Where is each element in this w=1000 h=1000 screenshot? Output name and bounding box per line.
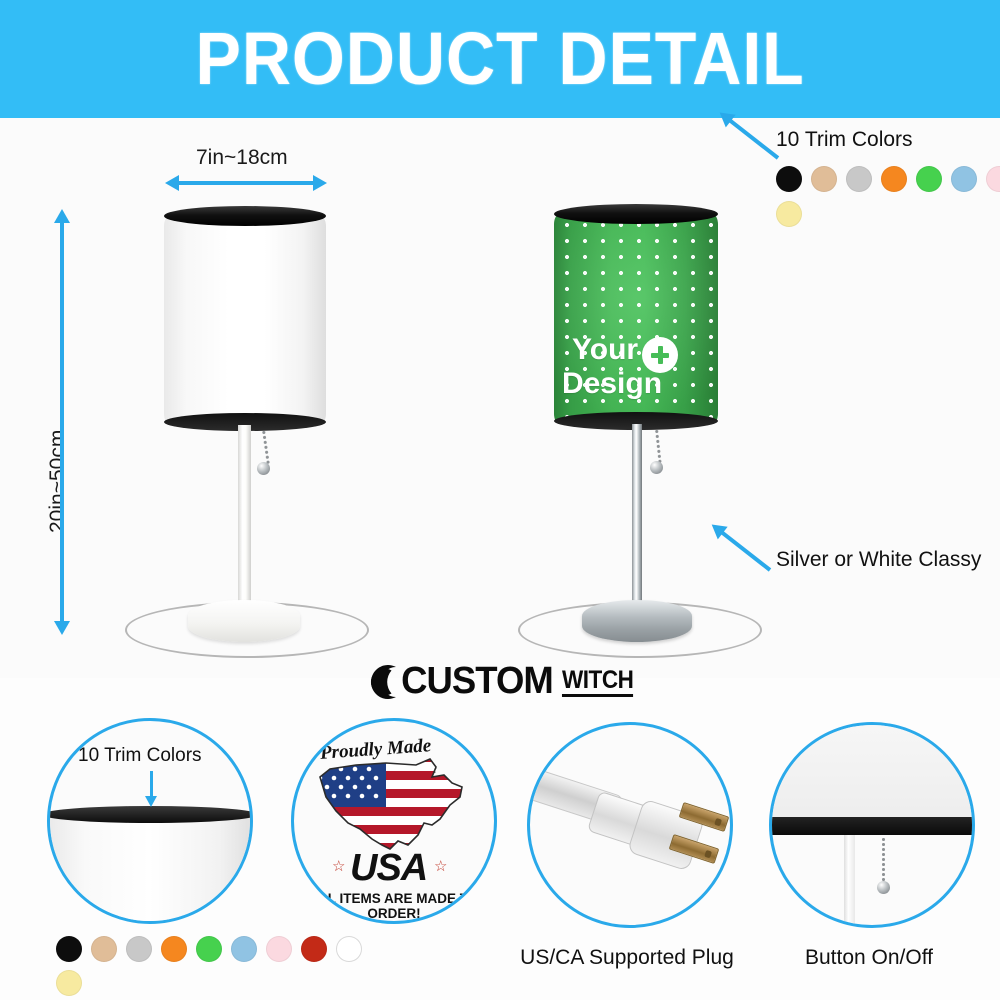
trim-swatch-white[interactable] [336, 936, 362, 962]
trim-colors-title: 10 Trim Colors [776, 128, 1000, 152]
switch-shade-surface [769, 722, 975, 825]
trim-swatch-gray[interactable] [846, 166, 872, 192]
trim-swatch-pink[interactable] [986, 166, 1000, 192]
base-finish-callout: Silver or White Classy [776, 548, 981, 572]
white-shade-surface [164, 216, 326, 424]
plug-feature [527, 722, 733, 928]
width-measurement-label: 7in~18cm [196, 146, 288, 170]
trim-colors-row-1 [776, 166, 1000, 192]
bottom-trim-row-2 [56, 970, 362, 996]
green-lamp-chain-ball[interactable] [650, 461, 663, 474]
white-lamp-top-trim [164, 206, 326, 226]
trim-swatch-black[interactable] [56, 936, 82, 962]
height-measurement-arrow [60, 222, 64, 622]
switch-lamp-pole [844, 835, 855, 928]
feature-shade-trim [47, 806, 253, 823]
usa-star-right: ☆ [434, 857, 447, 875]
trim-swatch-dark-red[interactable] [301, 936, 327, 962]
width-measurement-arrow [178, 181, 314, 185]
trim-swatch-black[interactable] [776, 166, 802, 192]
white-lamp-shade [164, 216, 326, 424]
trim-swatch-tan[interactable] [811, 166, 837, 192]
plug-feature-caption: US/CA Supported Plug [507, 946, 747, 970]
white-lamp-pull-chain[interactable] [262, 430, 270, 466]
switch-chain-ball[interactable] [877, 881, 890, 894]
trim-swatch-light-blue[interactable] [231, 936, 257, 962]
green-lamp-top-trim [554, 204, 718, 224]
usa-star-left: ☆ [332, 857, 345, 875]
height-measurement-label: 20in~50cm [46, 430, 70, 533]
trim-swatch-pink[interactable] [266, 936, 292, 962]
green-lamp-pole [632, 424, 642, 626]
trim-swatch-yellow[interactable] [56, 970, 82, 996]
trim-colors-panel: 10 Trim Colors [776, 128, 1000, 227]
trim-swatch-green[interactable] [196, 936, 222, 962]
header-banner: PRODUCT DETAIL [0, 0, 1000, 118]
brand-name-main: CUSTOM [401, 660, 553, 703]
green-lamp-pull-chain[interactable] [655, 429, 662, 465]
white-lamp-pole [238, 425, 251, 625]
feature-trim-pointer-arrow [150, 771, 153, 797]
green-lamp-base [582, 600, 692, 642]
trim-swatch-orange[interactable] [881, 166, 907, 192]
switch-feature [769, 722, 975, 928]
trim-colors-row-2 [776, 201, 1000, 227]
made-in-usa-feature: Proudly Made in the [291, 718, 497, 924]
switch-feature-caption: Button On/Off [769, 946, 969, 970]
trim-swatch-tan[interactable] [91, 936, 117, 962]
feature-trim-colors-label: 10 Trim Colors [78, 745, 202, 767]
trim-swatch-yellow[interactable] [776, 201, 802, 227]
trim-swatch-orange[interactable] [161, 936, 187, 962]
design-text-line-2: Design [562, 368, 662, 399]
crescent-c-icon [363, 663, 401, 701]
product-detail-page: PRODUCT DETAIL 7in~18cm 20in~50cm [0, 0, 1000, 1000]
brand-logo: CUSTOM WITCH [0, 660, 1000, 710]
plus-icon[interactable] [642, 337, 678, 373]
base-finish-pointer-arrow [720, 530, 771, 571]
usa-badge-footer: ALL ITEMS ARE MADE TO ORDER! [294, 891, 494, 921]
switch-shade-trim [769, 817, 975, 835]
brand-name-sub: WITCH [562, 667, 633, 697]
trim-swatch-gray[interactable] [126, 936, 152, 962]
bottom-trim-colors-panel [56, 936, 362, 996]
trim-swatch-light-blue[interactable] [951, 166, 977, 192]
white-lamp-chain-ball[interactable] [257, 462, 270, 475]
design-text-line-1: Your [572, 334, 638, 365]
trim-colors-pointer-arrow [728, 118, 779, 159]
white-lamp-base [188, 600, 300, 642]
main-stage: 7in~18cm 20in~50cm 10 Trim Colors [0, 118, 1000, 678]
bottom-trim-row-1 [56, 936, 362, 962]
trim-colors-feature: 10 Trim Colors [47, 718, 253, 924]
trim-swatch-green[interactable] [916, 166, 942, 192]
page-title: PRODUCT DETAIL [195, 22, 804, 96]
switch-pull-chain[interactable] [882, 837, 885, 885]
usa-badge-word: USA [350, 847, 427, 890]
feature-shade-surface [47, 816, 253, 924]
